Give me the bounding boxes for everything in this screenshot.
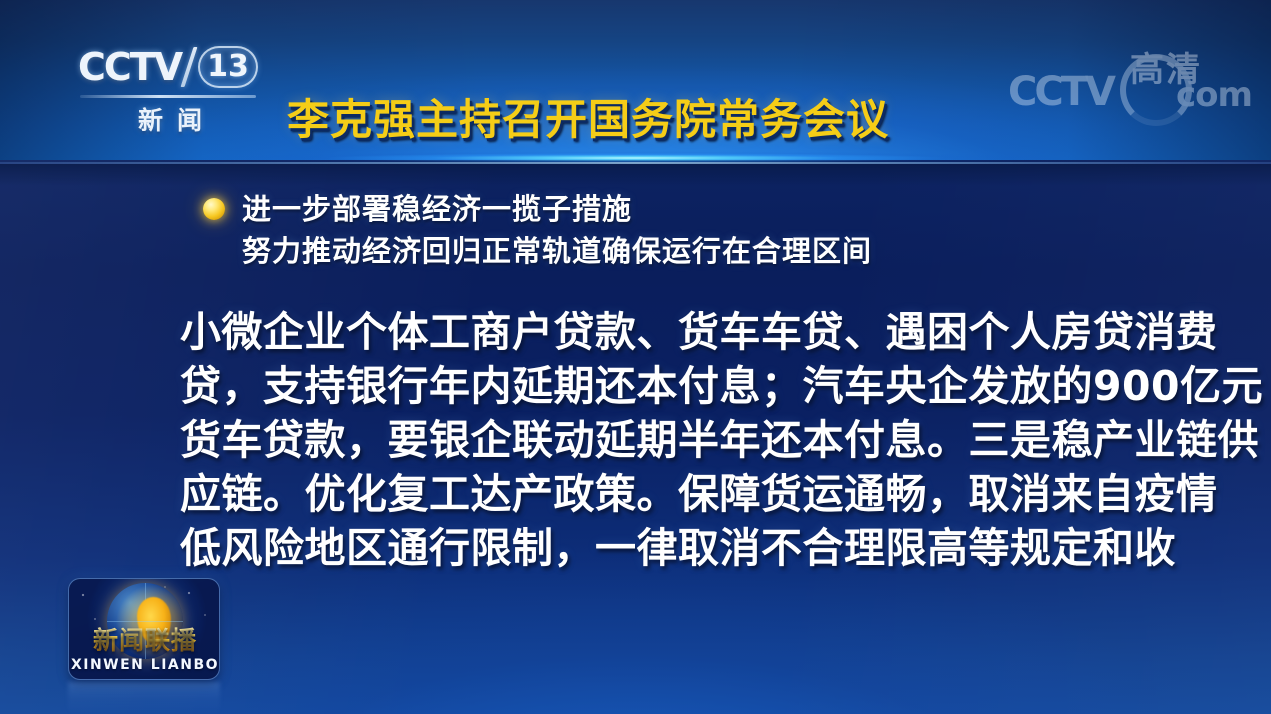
gold-dot-bullet-icon	[203, 198, 225, 220]
program-bug-xinwen-lianbo: 新闻联播 XINWEN LIANBO	[68, 578, 220, 680]
subtitle-block: 进一步部署稳经济一揽子措施 努力推动经济回归正常轨道确保运行在合理区间	[200, 188, 1200, 272]
channel-number: 13	[207, 52, 249, 82]
body-line: 小微企业个体工商户贷款、货车车贷、遇困个人房贷消费	[180, 305, 1190, 359]
body-line: 货车贷款，要银企联动延期半年还本付息。三是稳产业链供	[180, 413, 1190, 467]
cctv-underline-rule	[80, 95, 256, 98]
program-bug-title: 新闻联播	[69, 627, 220, 655]
channel-sub-label: 新闻	[104, 101, 236, 137]
page-title: 李克强主持召开国务院常务会议	[287, 97, 889, 143]
body-line: 低风险地区通行限制，一律取消不合理限高等规定和收	[180, 521, 1190, 575]
broadcast-lower-third-screen: CCTV 13 新闻 李克强主持召开国务院常务会议 高清 CCTV com 进一…	[0, 0, 1271, 714]
cctv13-channel-logo: CCTV 13 新闻	[78, 45, 258, 125]
subtitle-line: 努力推动经济回归正常轨道确保运行在合理区间	[242, 230, 1200, 272]
body-line: 贷，支持银行年内延期还本付息；汽车央企发放的900亿元	[180, 359, 1190, 413]
slash-icon	[181, 47, 198, 87]
program-bug-subtitle: XINWEN LIANBO	[69, 657, 220, 673]
cctv13-logo-row: CCTV 13	[78, 45, 258, 89]
cctv-wordmark: CCTV	[78, 45, 181, 89]
body-text-block: 小微企业个体工商户贷款、货车车贷、遇困个人房贷消费 贷，支持银行年内延期还本付息…	[180, 305, 1190, 575]
channel-number-badge: 13	[198, 46, 258, 88]
body-line: 应链。优化复工达产政策。保障货运通畅，取消来自疫情	[180, 467, 1190, 521]
subtitle-line: 进一步部署稳经济一揽子措施	[242, 188, 1200, 230]
